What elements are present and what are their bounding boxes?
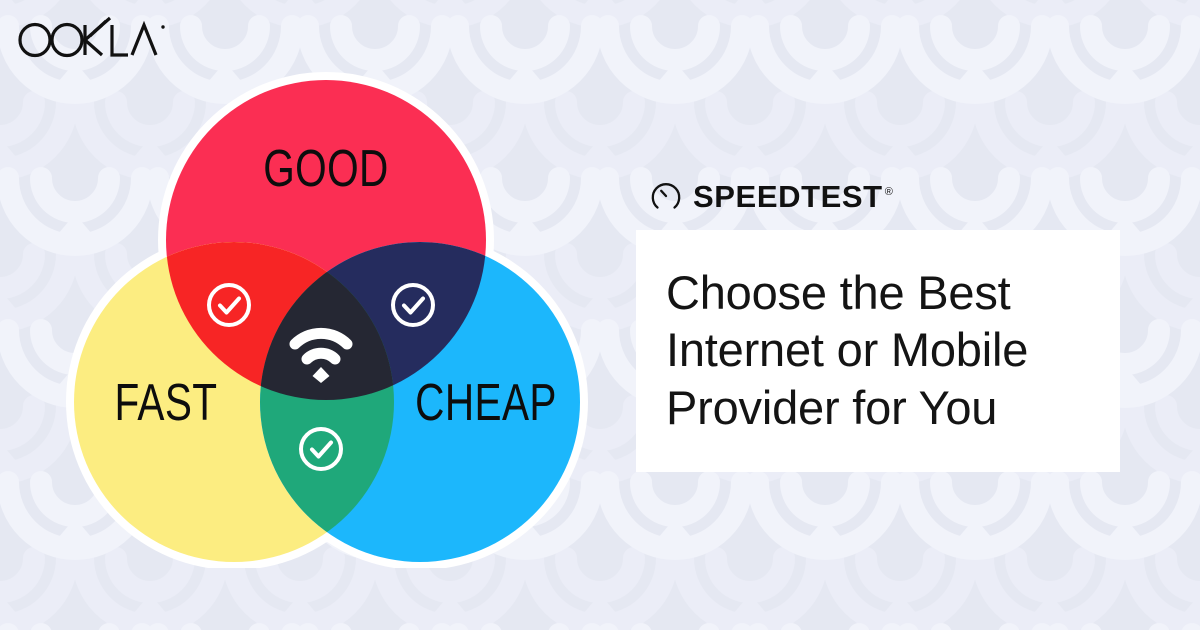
venn-diagram: GOOD FAST CHEAP — [54, 62, 600, 568]
venn-label-fast: FAST — [115, 373, 218, 431]
speedtest-wordmark-text: SPEEDTEST — [693, 179, 883, 214]
registered-mark: ® — [885, 186, 894, 198]
ookla-logo — [14, 16, 174, 64]
right-content-column: SPEEDTEST® Choose the Best Internet or M… — [636, 172, 1120, 472]
speedometer-gauge-icon — [650, 180, 682, 212]
venn-label-good: GOOD — [263, 139, 388, 197]
headline-line-3: Provider for You — [666, 381, 997, 434]
poster-canvas: GOOD FAST CHEAP — [0, 0, 1200, 630]
headline-line-2: Internet or Mobile — [666, 323, 1028, 376]
page-title: Choose the Best Internet or Mobile Provi… — [666, 264, 1090, 436]
speedtest-logo: SPEEDTEST® — [650, 172, 1120, 220]
headline-card: Choose the Best Internet or Mobile Provi… — [636, 230, 1120, 472]
headline-line-1: Choose the Best — [666, 266, 1011, 319]
venn-label-cheap: CHEAP — [415, 373, 557, 431]
speedtest-wordmark: SPEEDTEST® — [693, 181, 893, 212]
